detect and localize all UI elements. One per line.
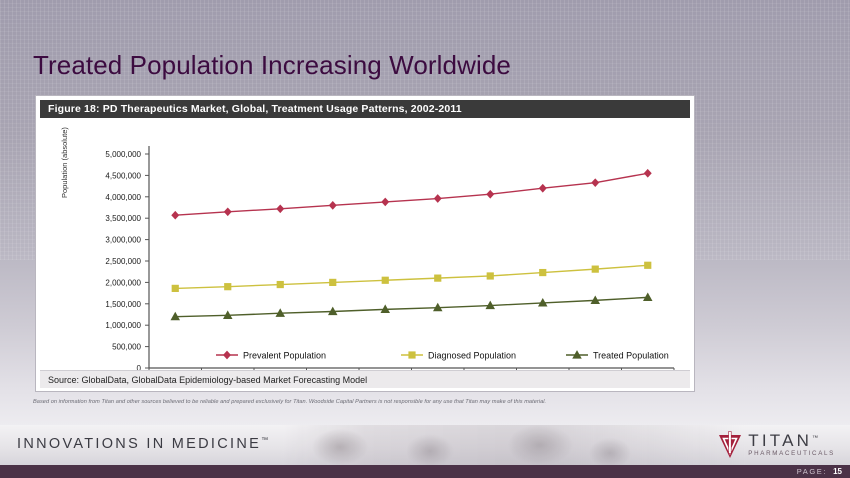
- y-axis-tick-label: 2,500,000: [105, 257, 141, 266]
- legend-item-1: Diagnosed Population: [401, 350, 516, 360]
- y-axis-tick-label: 1,500,000: [105, 300, 141, 309]
- legend-item-0: Prevalent Population: [216, 350, 326, 360]
- y-axis-tick-label: 3,000,000: [105, 236, 141, 245]
- y-axis-tick-label: 1,000,000: [105, 321, 141, 330]
- page-number: 15: [833, 467, 842, 476]
- footer-tagline: INNOVATIONS IN MEDICINE™: [17, 436, 268, 452]
- figure-source: Source: GlobalData, GlobalData Epidemiol…: [40, 370, 690, 388]
- legend-marker-icon: [224, 351, 231, 358]
- y-axis-tick-label: 5,000,000: [105, 150, 141, 159]
- data-point-marker: [329, 202, 336, 209]
- legend-label: Treated Population: [593, 350, 669, 360]
- y-axis-tick-label: 500,000: [112, 343, 141, 352]
- titan-mark-icon: [717, 431, 743, 459]
- data-point-marker: [434, 195, 441, 202]
- legal-disclaimer: Based on information from Titan and othe…: [33, 399, 823, 405]
- slide-footer: INNOVATIONS IN MEDICINE™ TITAN™ PHARMACE…: [0, 425, 850, 478]
- series-line-1: [175, 265, 648, 288]
- data-point-marker: [330, 279, 336, 285]
- data-point-marker: [277, 205, 284, 212]
- line-chart: 0500,0001,000,0001,500,0002,000,0002,500…: [36, 118, 688, 371]
- titan-name: TITAN™: [748, 432, 835, 449]
- y-axis-tick-label: 4,500,000: [105, 171, 141, 180]
- data-point-marker: [645, 262, 651, 268]
- data-point-marker: [277, 281, 283, 287]
- data-point-marker: [644, 170, 651, 177]
- titan-wordmark: TITAN™ PHARMACEUTICALS: [748, 432, 835, 457]
- titan-logo: TITAN™ PHARMACEUTICALS: [717, 428, 835, 462]
- data-point-marker: [592, 179, 599, 186]
- data-point-marker: [487, 191, 494, 198]
- page-label: PAGE:: [797, 467, 827, 476]
- legend-marker-icon: [409, 352, 415, 358]
- footer-bottom-bar: [0, 465, 850, 478]
- legend-item-2: Treated Population: [566, 350, 669, 360]
- data-point-marker: [225, 284, 231, 290]
- chart-plot-area: Population (absolute) 0500,0001,000,0001…: [36, 118, 694, 371]
- titan-name-tm: ™: [812, 436, 818, 442]
- series-line-2: [175, 297, 648, 316]
- page-indicator: PAGE: 15: [797, 465, 842, 478]
- series-line-0: [175, 173, 648, 215]
- legend-label: Diagnosed Population: [428, 350, 516, 360]
- titan-name-text: TITAN: [748, 431, 812, 450]
- page-title: Treated Population Increasing Worldwide: [33, 50, 511, 81]
- data-point-marker: [592, 266, 598, 272]
- slide: Treated Population Increasing Worldwide …: [0, 0, 850, 478]
- data-point-marker: [539, 185, 546, 192]
- y-axis-tick-label: 4,000,000: [105, 193, 141, 202]
- data-point-marker: [382, 198, 389, 205]
- footer-photo-strip: [280, 425, 750, 465]
- data-point-marker: [224, 208, 231, 215]
- data-point-marker: [382, 277, 388, 283]
- data-point-marker: [540, 269, 546, 275]
- footer-tagline-tm: ™: [261, 437, 268, 444]
- y-axis-tick-label: 3,500,000: [105, 214, 141, 223]
- data-point-marker: [172, 285, 178, 291]
- data-point-marker: [487, 273, 493, 279]
- titan-subtitle: PHARMACEUTICALS: [748, 451, 835, 457]
- figure-header: Figure 18: PD Therapeutics Market, Globa…: [40, 100, 690, 118]
- data-point-marker: [435, 275, 441, 281]
- footer-tagline-text: INNOVATIONS IN MEDICINE: [17, 436, 261, 452]
- figure-card: Figure 18: PD Therapeutics Market, Globa…: [35, 95, 695, 392]
- data-point-marker: [172, 212, 179, 219]
- legend-label: Prevalent Population: [243, 350, 326, 360]
- y-axis-tick-label: 2,000,000: [105, 278, 141, 287]
